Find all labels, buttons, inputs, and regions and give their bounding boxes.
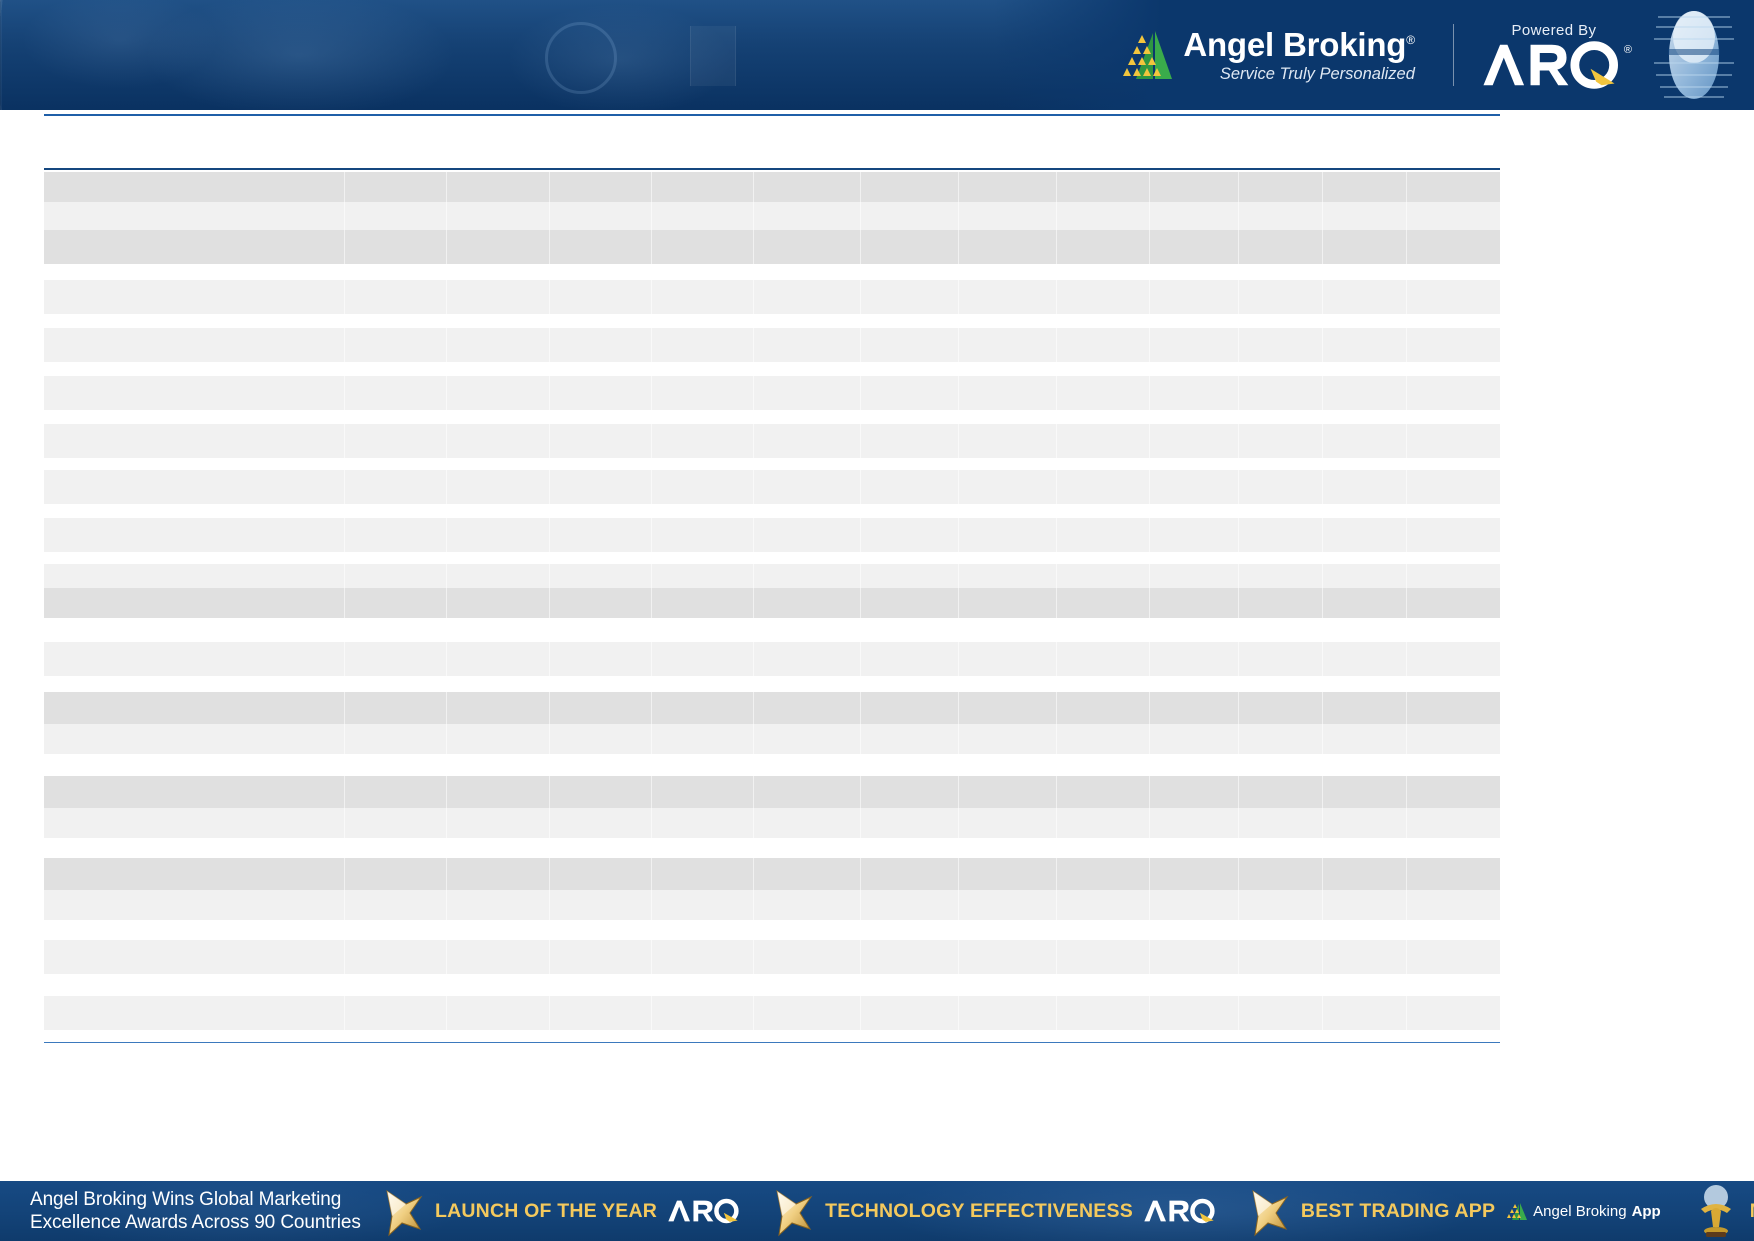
award-label: BEST TRADING APP <box>1301 1200 1495 1223</box>
table-row <box>44 588 1500 618</box>
table-row <box>44 642 1500 676</box>
table-row <box>44 202 1500 230</box>
arq-logo: Powered By ® <box>1474 22 1640 89</box>
angel-broking-triangle-logo-icon <box>1112 27 1174 83</box>
page-header: Angel Broking® Service Truly Personalize… <box>0 0 1754 110</box>
brand-lockup: Angel Broking® Service Truly Personalize… <box>1112 0 1742 110</box>
arq-wordmark: ® <box>1474 41 1634 89</box>
data-table <box>44 170 1500 1042</box>
table-row <box>44 808 1500 838</box>
registered-mark: ® <box>1406 33 1415 47</box>
table-row <box>44 996 1500 1030</box>
award-item: BEST TRADING APPAngel BrokingApp <box>1246 1185 1661 1237</box>
awards-headline-line2: Excellence Awards Across 90 Countries <box>30 1211 380 1234</box>
star-award-icon <box>1246 1185 1292 1237</box>
award-label: TECHNOLOGY EFFECTIVENESS <box>825 1200 1133 1223</box>
header-decor-rect <box>690 26 736 86</box>
header-decor-circle <box>545 22 617 94</box>
awards-footer-banner: Angel Broking Wins Global Marketing Exce… <box>0 1181 1754 1241</box>
award-brand-suffix: App <box>1632 1203 1661 1220</box>
award-brand-angel: Angel BrokingApp <box>1504 1201 1661 1221</box>
awards-headline-line1: Angel Broking Wins Global Marketing <box>30 1188 380 1211</box>
arq-digital-head-icon <box>1646 3 1742 107</box>
powered-by-label: Powered By <box>1512 22 1597 39</box>
table-row <box>44 776 1500 808</box>
table-row <box>44 280 1500 314</box>
angel-broking-mini-logo-icon <box>1504 1201 1528 1221</box>
award-brand-arq <box>666 1198 740 1224</box>
table-row <box>44 858 1500 890</box>
table-row <box>44 230 1500 264</box>
table-row <box>44 940 1500 974</box>
award-brand-arq <box>1142 1198 1216 1224</box>
award-item: LAUNCH OF THE YEAR <box>380 1185 740 1237</box>
table-row <box>44 376 1500 410</box>
table-row <box>44 890 1500 920</box>
award-label: LAUNCH OF THE YEAR <box>435 1200 657 1223</box>
angel-broking-wordmark: Angel Broking® Service Truly Personalize… <box>1183 28 1415 83</box>
header-bottom-rule <box>44 114 1500 116</box>
star-award-icon <box>380 1185 426 1237</box>
arq-registered-mark: ® <box>1624 45 1634 56</box>
star-award-icon <box>770 1185 816 1237</box>
table-row <box>44 564 1500 588</box>
brand-tagline: Service Truly Personalized <box>1220 66 1415 83</box>
awards-headline: Angel Broking Wins Global Marketing Exce… <box>0 1188 380 1234</box>
award-item: TECHNOLOGY EFFECTIVENESS <box>770 1185 1216 1237</box>
table-row <box>44 470 1500 504</box>
brand-divider <box>1453 24 1454 86</box>
table-row <box>44 724 1500 754</box>
trophy-award-icon <box>1691 1183 1741 1239</box>
angel-broking-logo: Angel Broking® Service Truly Personalize… <box>1112 27 1433 83</box>
brand-name: Angel Broking® <box>1183 28 1415 61</box>
arq-mini-wordmark-icon <box>666 1198 740 1224</box>
arq-letterforms-icon <box>1474 41 1624 89</box>
table-row <box>44 424 1500 458</box>
arq-mini-wordmark-icon <box>1142 1198 1216 1224</box>
table-row <box>44 328 1500 362</box>
table-row <box>44 172 1500 202</box>
table-bottom-rule <box>44 1042 1500 1043</box>
table-row <box>44 692 1500 724</box>
table-row <box>44 518 1500 552</box>
award-brand-name: Angel Broking <box>1533 1203 1626 1220</box>
award-item: MASTER BRAND 2016Angel Broking <box>1691 1183 1754 1239</box>
awards-list: LAUNCH OF THE YEARTECHNOLOGY EFFECTIVENE… <box>380 1183 1754 1239</box>
award-label: MASTER BRAND 2016 <box>1750 1200 1754 1223</box>
